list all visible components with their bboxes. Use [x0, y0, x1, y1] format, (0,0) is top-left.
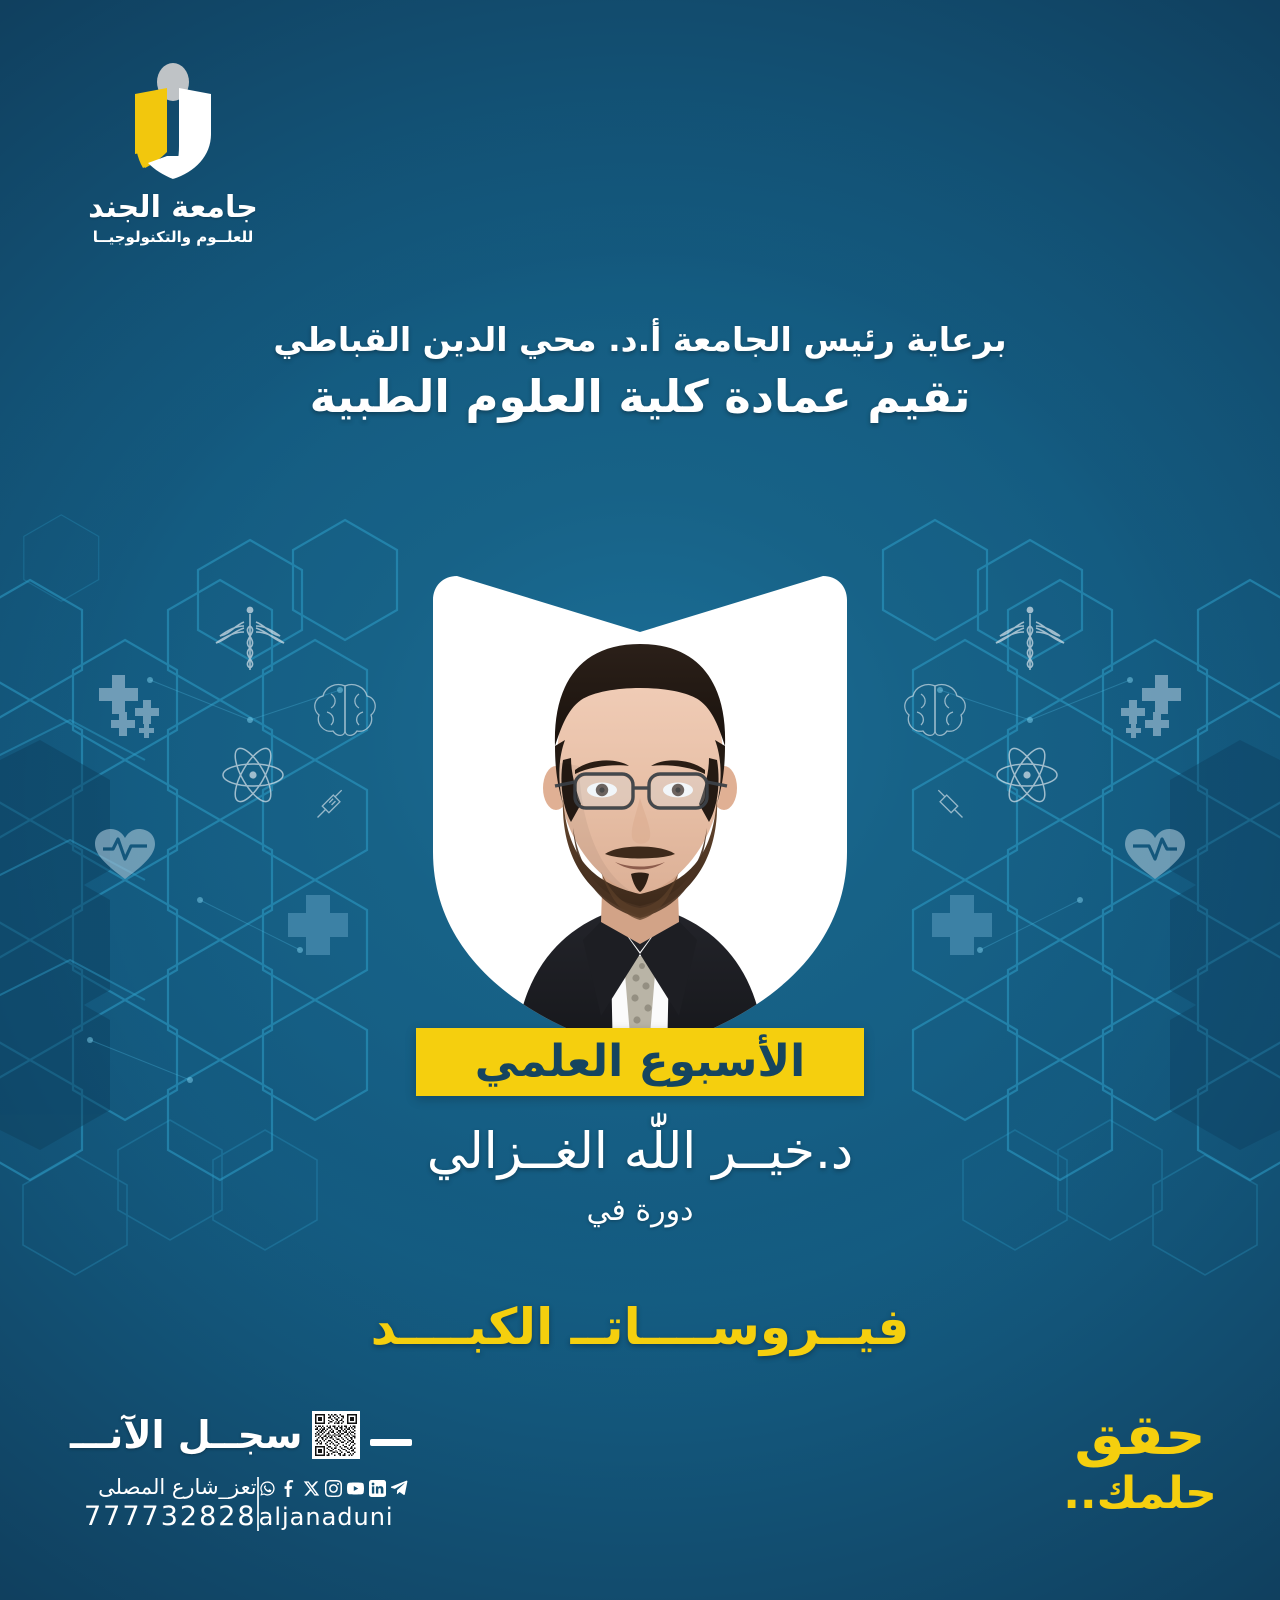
whatsapp-icon[interactable]: [259, 1480, 276, 1497]
phone-number[interactable]: 777732828: [84, 1500, 257, 1534]
atom-icon: [223, 744, 283, 807]
university-subtitle: للعلــوم والتكنولوجيــا: [78, 228, 268, 248]
heart-pulse-icon: [1125, 829, 1185, 879]
caduceus-icon: [996, 607, 1064, 670]
brain-icon: [905, 685, 965, 736]
x-twitter-icon[interactable]: [303, 1480, 320, 1497]
medical-cross-icon: [288, 895, 348, 955]
medical-cross-icon: [932, 895, 992, 955]
syringe-icon: [938, 790, 962, 817]
address-phone-group: تعز_شارع المصلى 777732828: [70, 1474, 257, 1534]
course-prefix: دورة في: [0, 1191, 1280, 1230]
brain-icon: [315, 685, 375, 736]
atom-icon: [997, 744, 1057, 807]
event-title-banner: الأسبوع العلمي: [416, 1028, 864, 1096]
footer-contact-block: سجــل الآنـــ: [70, 1404, 400, 1534]
course-title: فيــروســــاتــ الكبــــد: [0, 1300, 1280, 1355]
register-underline: [370, 1439, 412, 1446]
organizer-line: تقيم عمادة كلية العلوم الطبية: [140, 368, 1140, 427]
university-logo: جامعة الجند للعلــوم والتكنولوجيــا: [78, 62, 268, 247]
university-name: جامعة الجند: [78, 192, 268, 224]
slogan-line-1: حقق: [1055, 1408, 1225, 1464]
slogan-line-2: حلمك..: [1055, 1472, 1225, 1516]
speaker-portrait: [405, 560, 875, 1060]
register-now-label: سجــل الآنـــ: [70, 1416, 302, 1454]
patronage-line: برعاية رئيس الجامعة أ.د. محي الدين القبا…: [140, 318, 1140, 362]
heart-pulse-icon: [95, 829, 155, 879]
telegram-icon[interactable]: [391, 1480, 408, 1497]
youtube-icon[interactable]: [347, 1480, 364, 1497]
linkedin-icon[interactable]: [369, 1480, 386, 1497]
social-icons-row: [259, 1476, 408, 1500]
event-title-label: الأسبوع العلمي: [475, 1040, 805, 1084]
register-row: سجــل الآنـــ: [70, 1404, 400, 1466]
speaker-block: د.خيــر اللّٰه الغــزالي دورة في: [0, 1122, 1280, 1230]
medical-cross-icon: [99, 675, 159, 738]
instagram-icon[interactable]: [325, 1480, 342, 1497]
headline-block: برعاية رئيس الجامعة أ.د. محي الدين القبا…: [0, 318, 1280, 426]
medical-cross-icon: [1121, 675, 1181, 738]
book-shield-logo-icon: [117, 62, 229, 180]
social-handle[interactable]: aljanaduni: [259, 1502, 408, 1532]
poster-canvas: جامعة الجند للعلــوم والتكنولوجيــا برعا…: [0, 0, 1280, 1600]
speaker-name: د.خيــر اللّٰه الغــزالي: [0, 1122, 1280, 1181]
contact-info-row: تعز_شارع المصلى 777732828 aljanaduni: [70, 1474, 400, 1534]
course-title-block: فيــروســــاتــ الكبــــد: [0, 1300, 1280, 1355]
social-group: aljanaduni: [259, 1476, 422, 1532]
qr-code-icon[interactable]: [312, 1411, 360, 1459]
syringe-icon: [318, 790, 342, 817]
caduceus-icon: [216, 607, 284, 670]
facebook-icon[interactable]: [281, 1480, 298, 1497]
address-text: تعز_شارع المصلى: [84, 1474, 257, 1500]
slogan-block: حقق حلمك..: [1055, 1408, 1225, 1516]
